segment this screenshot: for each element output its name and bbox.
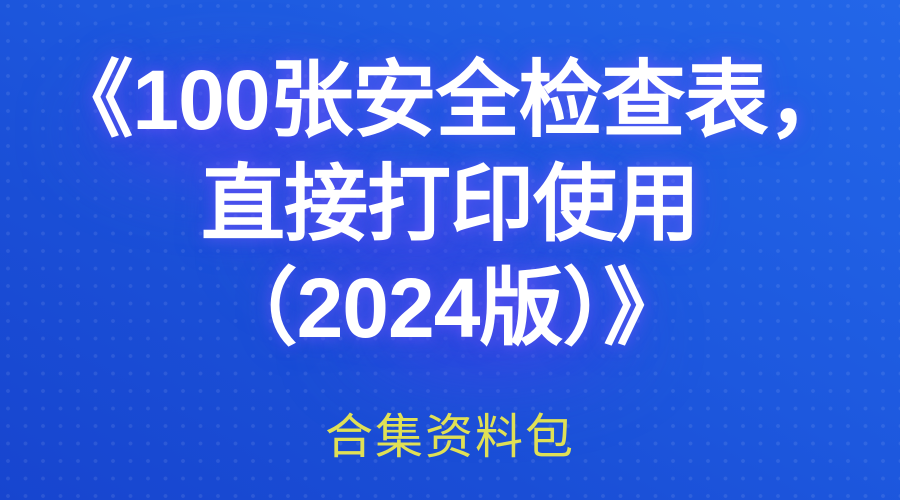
subtitle-text: 合集资料包 xyxy=(0,412,900,464)
poster-content: 《100张安全检查表， 直接打印使用 （2024版）》 合集资料包 xyxy=(0,0,900,500)
title-line-2: 直接打印使用 xyxy=(0,152,900,256)
title-line-1: 《100张安全检查表， xyxy=(0,48,900,152)
title-line-3: （2024版）》 xyxy=(0,256,900,360)
poster-canvas: 《100张安全检查表， 直接打印使用 （2024版）》 合集资料包 xyxy=(0,0,900,500)
